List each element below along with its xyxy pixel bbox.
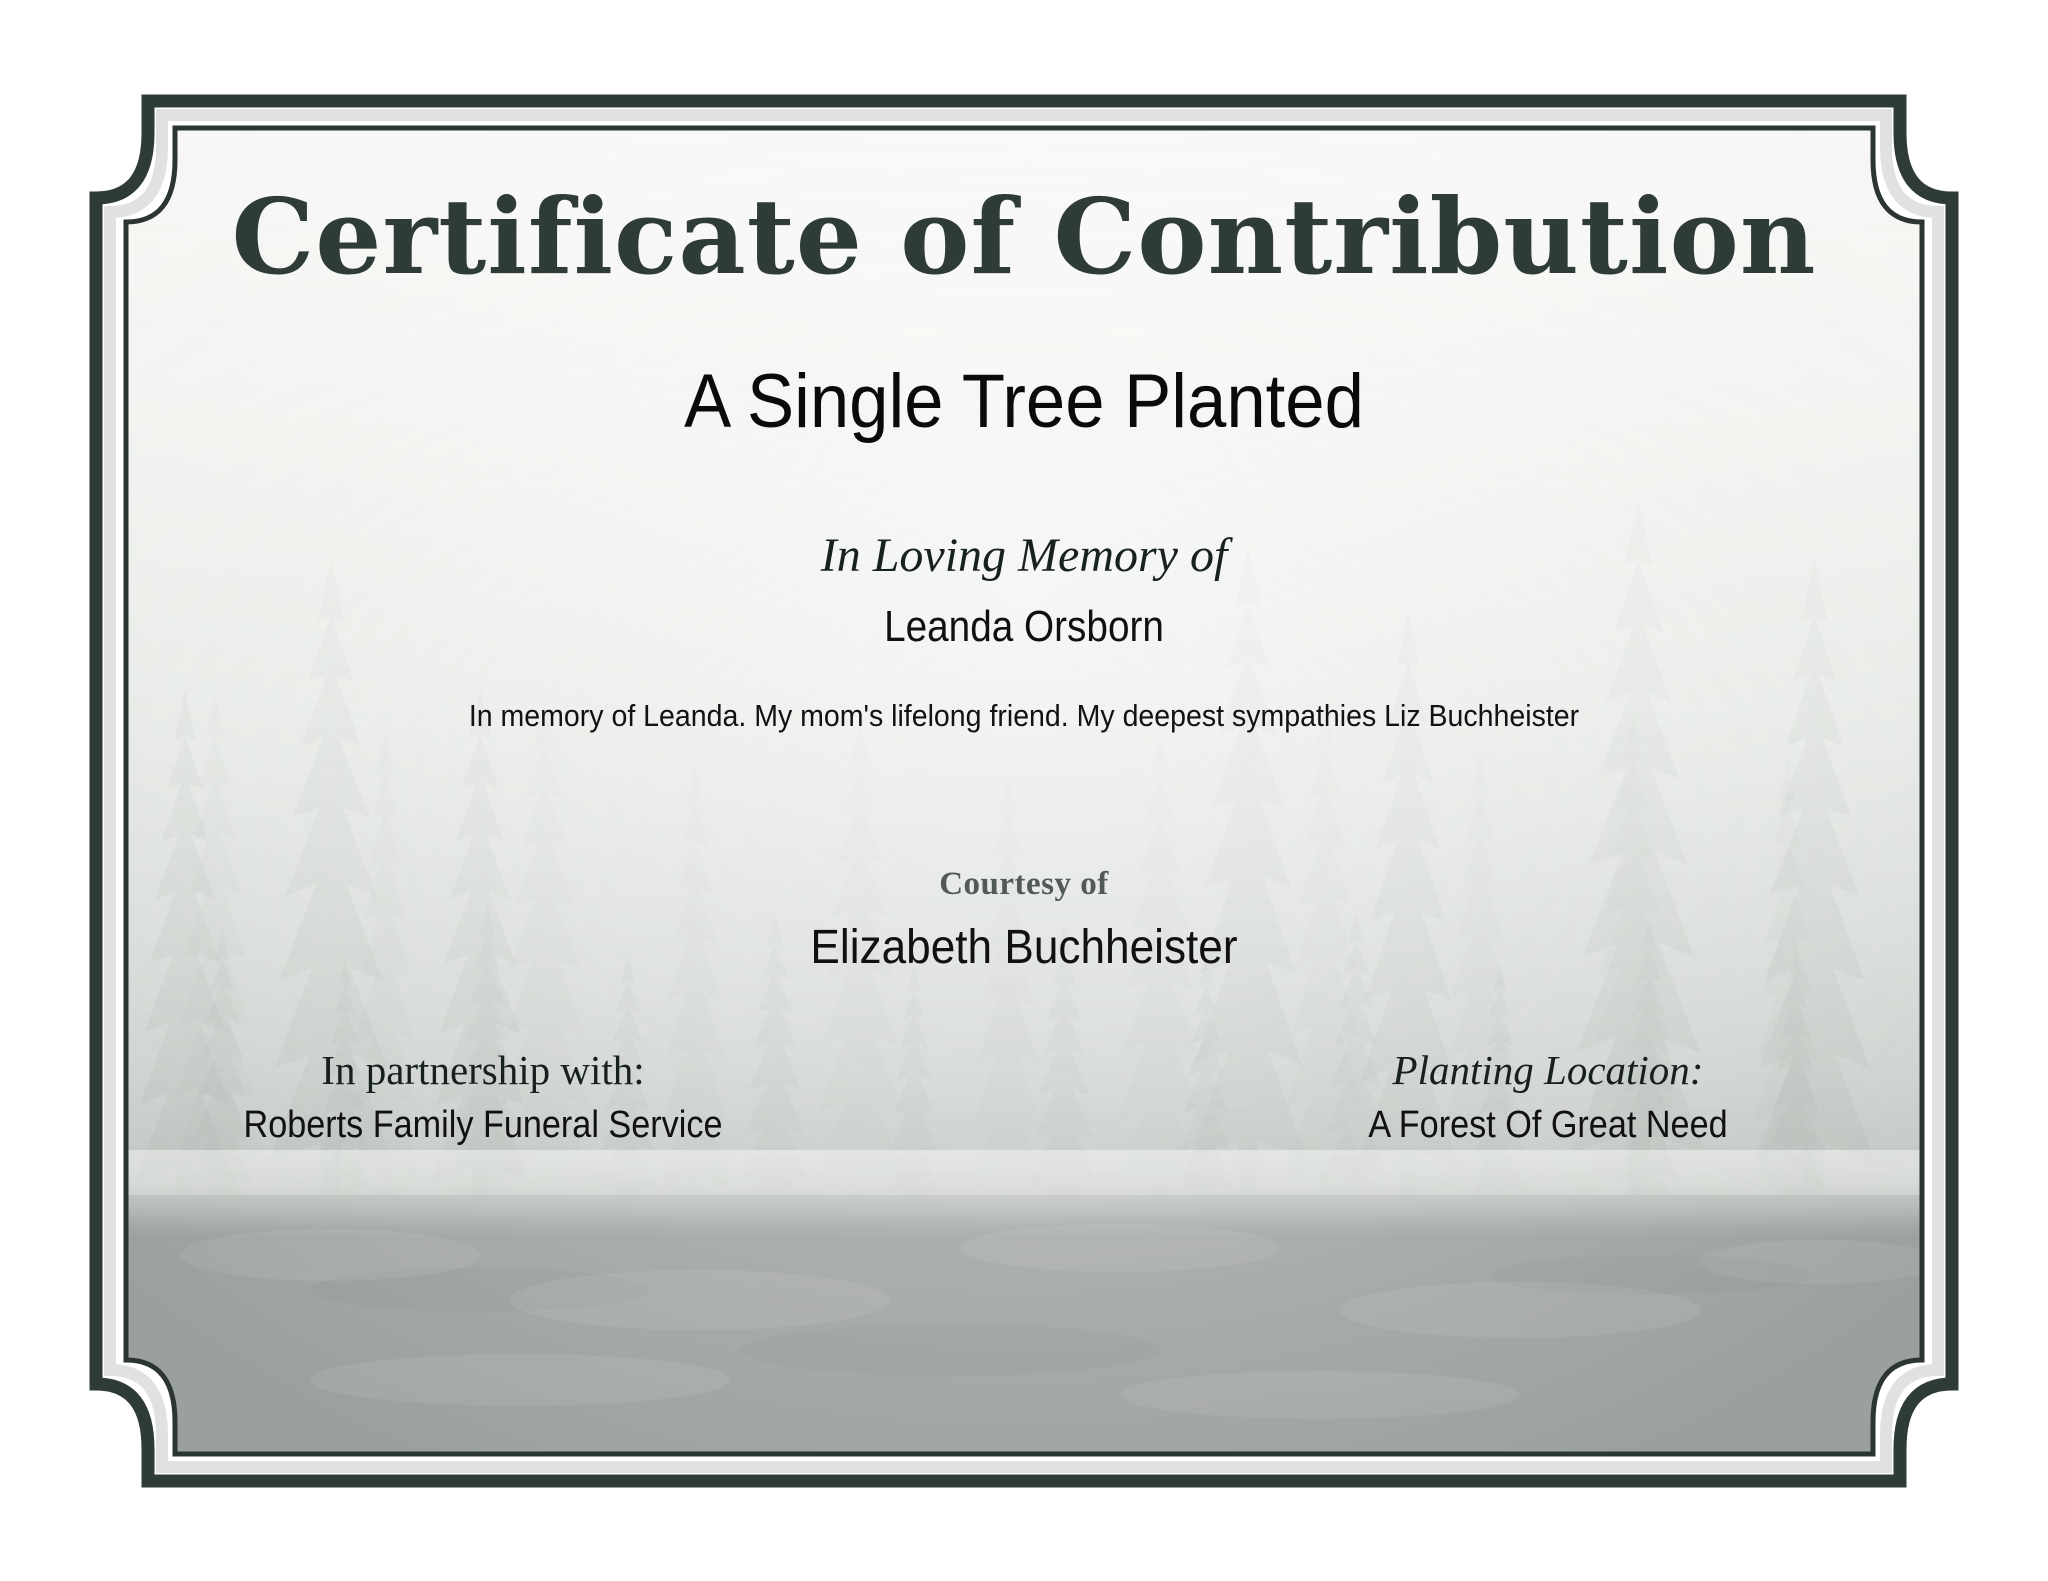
planting-location-block: Planting Location: A Forest Of Great Nee…: [1198, 1046, 1898, 1147]
in-loving-memory-label: In Loving Memory of: [118, 528, 1930, 583]
partnership-block: In partnership with: Roberts Family Fune…: [138, 1046, 828, 1147]
planting-location-label: Planting Location:: [1198, 1046, 1898, 1094]
partnership-value: Roberts Family Funeral Service: [173, 1104, 794, 1147]
courtesy-of-label: Courtesy of: [118, 866, 1930, 903]
planting-location-value: A Forest Of Great Need: [1233, 1104, 1863, 1147]
courtesy-donor-name: Elizabeth Buchheister: [190, 920, 1857, 975]
memorial-honoree-name: Leanda Orsborn: [227, 602, 1822, 652]
memorial-message: In memory of Leanda. My mom's lifelong f…: [426, 696, 1622, 736]
certificate-title: Certificate of Contribution: [118, 182, 1930, 291]
certificate-page: Certificate of Contribution A Single Tre…: [0, 0, 2048, 1581]
partnership-label: In partnership with:: [138, 1046, 828, 1094]
certificate-content: Certificate of Contribution A Single Tre…: [118, 96, 1930, 1486]
certificate-subtitle: A Single Tree Planted: [181, 358, 1866, 445]
